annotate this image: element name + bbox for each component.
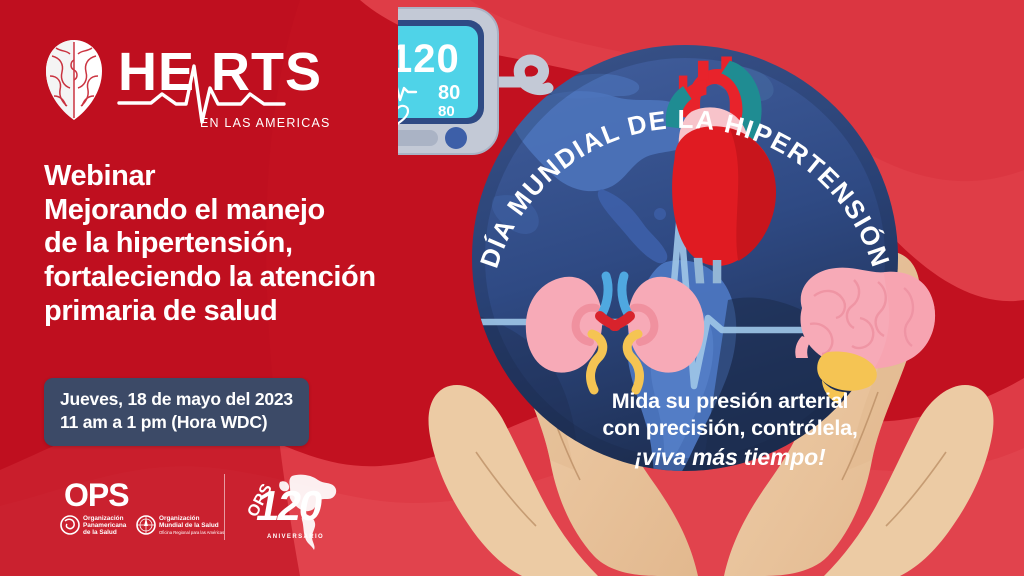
monitor-systolic-value: 120 (398, 37, 460, 81)
who-name-2: Mundial de la Salud (159, 522, 219, 529)
who-name-1: Organización (159, 515, 200, 522)
hearts-tagline: EN LAS AMERICAS (200, 116, 331, 130)
event-time: 11 am a 1 pm (Hora WDC) (60, 411, 293, 434)
who-name-3: Oficina Regional para las Américas (159, 530, 224, 535)
paho-name-1: Organización (83, 515, 124, 522)
webinar-line-2: Mejorando el manejo (44, 194, 444, 228)
monitor-diastolic-value: 80 (438, 82, 460, 104)
ops-logo-svg: OPS Organización Panamericana de la Salu… (44, 470, 344, 552)
ops-logo-block: OPS Organización Panamericana de la Salu… (44, 470, 344, 552)
illustration-svg: 120 80 80 (398, 0, 1024, 576)
ops-logo-divider (224, 474, 225, 540)
hearts-wordmark-part1: HE (118, 42, 195, 102)
paho-name-3: de la Salud (83, 529, 117, 536)
paho-name-2: Panamericana (83, 522, 127, 529)
hearts-wordmark-part2: RTS (211, 42, 322, 102)
who-emblem-icon (137, 516, 155, 534)
tagline-line-2: con precisión, contrólela, (560, 415, 900, 442)
event-date: Jueves, 18 de mayo del 2023 (60, 388, 293, 411)
poster-canvas: HE RTS EN LAS AMERICAS Webinar Mejorando… (0, 0, 1024, 576)
heart-brain-icon (46, 40, 102, 120)
tagline-line-3: ¡viva más tiempo! (560, 443, 900, 472)
event-datetime-box: Jueves, 18 de mayo del 2023 11 am a 1 pm… (44, 378, 309, 446)
ops-acronym: OPS (64, 477, 129, 513)
ops-120-number: 120 (253, 482, 326, 529)
webinar-line-4: fortaleciendo la atención (44, 261, 444, 295)
tagline-line-1: Mida su presión arterial (560, 388, 900, 415)
monitor-power-button[interactable] (445, 127, 467, 149)
hearts-logo: HE RTS EN LAS AMERICAS (36, 26, 336, 136)
ops-120-anniversary-logo: OPS 120 ANIVERSARIO (245, 475, 337, 550)
webinar-line-1: Webinar (44, 160, 444, 194)
tagline-block: Mida su presión arterial con precisión, … (560, 388, 900, 472)
webinar-line-5: primaria de salud (44, 295, 444, 329)
hearts-logo-svg: HE RTS EN LAS AMERICAS (36, 26, 336, 136)
hypertension-illustration: 120 80 80 (398, 0, 1024, 576)
monitor-pulse-value: 80 (438, 103, 455, 120)
webinar-line-3: de la hipertensión, (44, 227, 444, 261)
webinar-heading: Webinar Mejorando el manejo de la hipert… (44, 160, 444, 328)
ops-120-label: ANIVERSARIO (267, 534, 324, 540)
paho-emblem-icon (61, 516, 79, 534)
monitor-button-bar[interactable] (398, 130, 438, 146)
